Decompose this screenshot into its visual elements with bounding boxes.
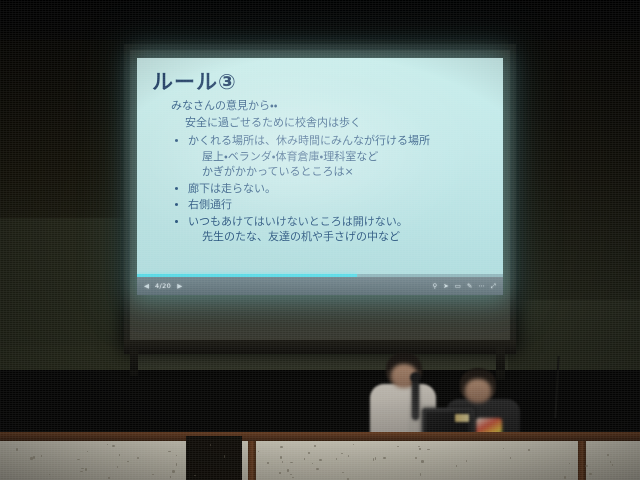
pointer-icon[interactable]: ➤ <box>443 283 448 290</box>
bullet-dot-icon <box>175 139 178 142</box>
wall-speckle <box>610 461 611 463</box>
wall-speckle <box>224 455 225 458</box>
fullscreen-icon[interactable]: ⤢ <box>491 283 496 290</box>
projector-screen-roller <box>124 340 516 354</box>
slide-bullet-item: かくれる場所は、休み時間にみんなが行ける場所 屋上・ベランダ・体育倉庫・理科室な… <box>171 133 491 180</box>
slide-bullet-list: かくれる場所は、休み時間にみんなが行ける場所 屋上・ベランダ・体育倉庫・理科室な… <box>171 133 491 245</box>
slide-body: みなさんの意見から・・ 安全に過ごせるために校舎内は歩く かくれる場所は、休み時… <box>171 98 491 246</box>
wall-speckle <box>119 454 120 456</box>
stage-railing-gap <box>186 436 242 480</box>
screen-mount-left <box>130 346 138 376</box>
wall-speckle <box>267 462 269 463</box>
slide-bullet-item: 廊下は走らない。 <box>171 181 491 197</box>
viewer-control-bar[interactable]: ◀ 4/20 ▶ ⚲ ➤ ▭ ✎ ⋯ ⤢ <box>137 277 503 295</box>
wall-speckle <box>279 472 281 474</box>
bullet-dot-icon <box>175 220 178 223</box>
student-black-face <box>465 379 491 403</box>
wall-speckle <box>564 476 566 479</box>
next-slide-button[interactable]: ▶ <box>177 283 182 290</box>
wall-speckle <box>341 453 343 454</box>
stage-railing-top <box>0 432 640 441</box>
wall-speckle <box>312 463 313 464</box>
wall-speckle <box>280 456 282 459</box>
previous-slide-button[interactable]: ◀ <box>144 283 149 290</box>
wall-speckle <box>528 449 530 451</box>
wall-speckle <box>585 465 588 467</box>
bullet-dot-icon <box>175 203 178 206</box>
wall-speckle <box>172 470 175 473</box>
wall-speckle <box>176 463 177 465</box>
wall-speckle <box>33 456 35 459</box>
viewer-tool-group: ⚲ ➤ ▭ ✎ ⋯ ⤢ <box>432 283 496 290</box>
tablet-sticker <box>455 414 469 422</box>
wall-speckle <box>503 448 504 449</box>
wall-speckle <box>418 446 420 447</box>
bullet-text: かくれる場所は、休み時間にみんなが行ける場所 <box>188 134 430 147</box>
bullet-text: いつもあけてはいけないところは開けない。 <box>188 215 408 228</box>
slide-bullet-item: いつもあけてはいけないところは開けない。 先生のたな、友達の机や手さげの中など <box>171 214 491 245</box>
wall-speckle <box>282 461 283 464</box>
slide-bullet-item: 右側通行 <box>171 197 491 213</box>
wall-speckle <box>612 464 614 465</box>
stage-railing-post <box>578 441 586 480</box>
viewer-navigation-group: ◀ 4/20 ▶ <box>144 282 182 290</box>
bullet-sub-line: 先生のたな、友達の机や手さげの中など <box>188 229 491 245</box>
microphone-head <box>410 372 421 383</box>
bullet-text: 廊下は走らない。 <box>188 182 276 195</box>
bullet-text: 右側通行 <box>188 198 232 211</box>
screen-icon[interactable]: ▭ <box>455 283 461 290</box>
wall-speckle <box>170 476 171 478</box>
bullet-dot-icon <box>175 187 178 190</box>
zoom-icon[interactable]: ⚲ <box>432 283 437 290</box>
wall-speckle <box>421 460 424 462</box>
slide-lead-line-2: 安全に過ごせるために校舎内は歩く <box>171 115 491 131</box>
wall-speckle <box>308 452 310 454</box>
wall-speckle <box>80 471 83 472</box>
projected-slide[interactable]: ルール③ みなさんの意見から・・ 安全に過ごせるために校舎内は歩く かくれる場所… <box>137 58 503 295</box>
wall-speckle <box>16 448 18 450</box>
bullet-sub-line: 屋上・ベランダ・体育倉庫・理科室など <box>188 149 491 165</box>
slide-title: ルール③ <box>152 66 237 96</box>
wall-speckle <box>287 469 289 472</box>
bullet-sub-line: かぎがかかっているところは× <box>188 164 491 180</box>
wall-speckle <box>314 445 315 447</box>
projected-presentation-scene: ルール③ みなさんの意見から・・ 安全に過ごせるために校舎内は歩く かくれる場所… <box>0 0 640 480</box>
slide-lead-line-1: みなさんの意見から・・ <box>171 98 491 114</box>
wall-speckle <box>77 459 80 460</box>
page-indicator: 4/20 <box>155 282 171 290</box>
more-icon[interactable]: ⋯ <box>478 283 485 290</box>
wall-speckle <box>397 446 399 447</box>
pen-icon[interactable]: ✎ <box>467 283 472 290</box>
stage-railing-post <box>248 441 256 480</box>
wall-speckle <box>280 446 283 448</box>
projector-screen-assembly: ルール③ みなさんの意見から・・ 安全に過ごせるために校舎内は歩く かくれる場所… <box>124 44 516 354</box>
